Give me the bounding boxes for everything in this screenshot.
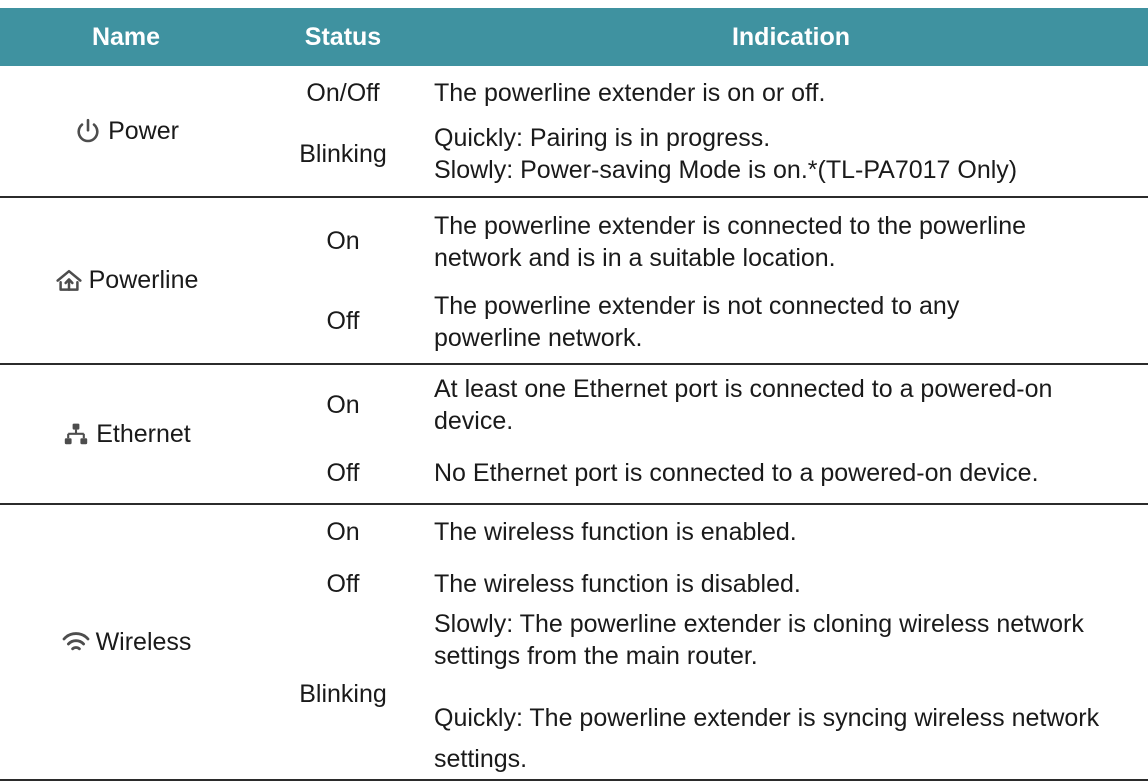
status-wireless-on: On bbox=[252, 518, 434, 547]
indication-paragraph-quickly: Quickly: The powerline extender is synci… bbox=[434, 698, 1134, 781]
indication-line: Slowly: Power-saving Mode is on.*(TL-PA7… bbox=[434, 154, 1134, 186]
status-powerline-off: Off bbox=[252, 307, 434, 336]
indication-ethernet-off: No Ethernet port is connected to a power… bbox=[434, 457, 1148, 489]
status-power-onoff: On/Off bbox=[252, 79, 434, 108]
table-row-wireless: Wireless On The wireless function is ena… bbox=[0, 505, 1148, 781]
row-name-label-wireless: Wireless bbox=[96, 628, 192, 657]
indication-line: The powerline extender is connected to t… bbox=[434, 210, 1134, 242]
entry-powerline-on: On The powerline extender is connected t… bbox=[252, 201, 1148, 283]
house-uplink-icon bbox=[54, 266, 84, 296]
indication-line: Slowly: The powerline extender is clonin… bbox=[434, 610, 989, 638]
wifi-icon bbox=[61, 627, 91, 657]
indication-line: network and is in a suitable location. bbox=[434, 242, 1134, 274]
indication-powerline-off: The powerline extender is not connected … bbox=[434, 290, 1148, 354]
row-entries-powerline: On The powerline extender is connected t… bbox=[252, 198, 1148, 363]
row-name-label-ethernet: Ethernet bbox=[96, 420, 191, 449]
indication-line: The wireless function is disabled. bbox=[434, 568, 1134, 600]
row-entries-power: On/Off The powerline extender is on or o… bbox=[252, 66, 1148, 196]
entry-power-blinking: Blinking Quickly: Pairing is in progress… bbox=[252, 116, 1148, 192]
column-header-indication: Indication bbox=[434, 25, 1148, 50]
indication-line: The wireless function is enabled. bbox=[434, 516, 1134, 548]
status-powerline-on: On bbox=[252, 227, 434, 256]
column-header-name: Name bbox=[0, 25, 252, 50]
indication-line: No Ethernet port is connected to a power… bbox=[434, 457, 1134, 489]
indication-ethernet-on: At least one Ethernet port is connected … bbox=[434, 373, 1148, 437]
indication-wireless-off: The wireless function is disabled. bbox=[434, 568, 1148, 600]
table-row-ethernet: Ethernet On At least one Ethernet port i… bbox=[0, 365, 1148, 505]
row-name-cell-wireless: Wireless bbox=[0, 505, 252, 779]
indication-line: Quickly: Pairing is in progress. bbox=[434, 122, 1134, 154]
indication-power-blinking: Quickly: Pairing is in progress. Slowly:… bbox=[434, 122, 1148, 186]
status-wireless-blinking: Blinking bbox=[252, 680, 434, 709]
entry-power-onoff: On/Off The powerline extender is on or o… bbox=[252, 70, 1148, 116]
indication-line: The powerline extender is on or off. bbox=[434, 77, 1134, 109]
status-wireless-off: Off bbox=[252, 570, 434, 599]
table-row-power: Power On/Off The powerline extender is o… bbox=[0, 66, 1148, 198]
row-name-cell-ethernet: Ethernet bbox=[0, 365, 252, 503]
indication-paragraph-slowly: Slowly: The powerline extender is clonin… bbox=[434, 608, 1134, 672]
row-entries-wireless: On The wireless function is enabled. Off… bbox=[252, 505, 1148, 779]
entry-wireless-on: On The wireless function is enabled. bbox=[252, 506, 1148, 558]
status-ethernet-on: On bbox=[252, 391, 434, 420]
entry-powerline-off: Off The powerline extender is not connec… bbox=[252, 283, 1148, 361]
table-header-row: Name Status Indication bbox=[0, 8, 1148, 66]
indication-line: device. bbox=[434, 405, 1134, 437]
indication-line: The powerline extender is not connected … bbox=[434, 290, 1134, 322]
row-name-cell-powerline: Powerline bbox=[0, 198, 252, 363]
indication-line: Quickly: The powerline extender is synci… bbox=[434, 704, 1005, 732]
indication-line: At least one Ethernet port is connected … bbox=[434, 373, 1134, 405]
entry-ethernet-on: On At least one Ethernet port is connect… bbox=[252, 366, 1148, 444]
entry-wireless-off: Off The wireless function is disabled. bbox=[252, 558, 1148, 610]
entry-wireless-blinking: Blinking Slowly: The powerline extender … bbox=[252, 610, 1148, 778]
indication-wireless-blinking: Slowly: The powerline extender is clonin… bbox=[434, 608, 1148, 781]
row-name-label-power: Power bbox=[108, 117, 179, 146]
led-indicator-table: Name Status Indication Power On/Off The … bbox=[0, 0, 1148, 781]
row-name-label-powerline: Powerline bbox=[89, 266, 199, 295]
status-ethernet-off: Off bbox=[252, 459, 434, 488]
indication-wireless-on: The wireless function is enabled. bbox=[434, 516, 1148, 548]
row-entries-ethernet: On At least one Ethernet port is connect… bbox=[252, 365, 1148, 503]
status-power-blinking: Blinking bbox=[252, 140, 434, 169]
indication-powerline-on: The powerline extender is connected to t… bbox=[434, 210, 1148, 274]
row-name-cell-power: Power bbox=[0, 66, 252, 196]
ethernet-network-icon bbox=[61, 419, 91, 449]
indication-line: powerline network. bbox=[434, 322, 1134, 354]
indication-power-onoff: The powerline extender is on or off. bbox=[434, 77, 1148, 109]
entry-ethernet-off: Off No Ethernet port is connected to a p… bbox=[252, 444, 1148, 502]
power-icon bbox=[73, 116, 103, 146]
column-header-status: Status bbox=[252, 25, 434, 50]
table-row-powerline: Powerline On The powerline extender is c… bbox=[0, 198, 1148, 365]
